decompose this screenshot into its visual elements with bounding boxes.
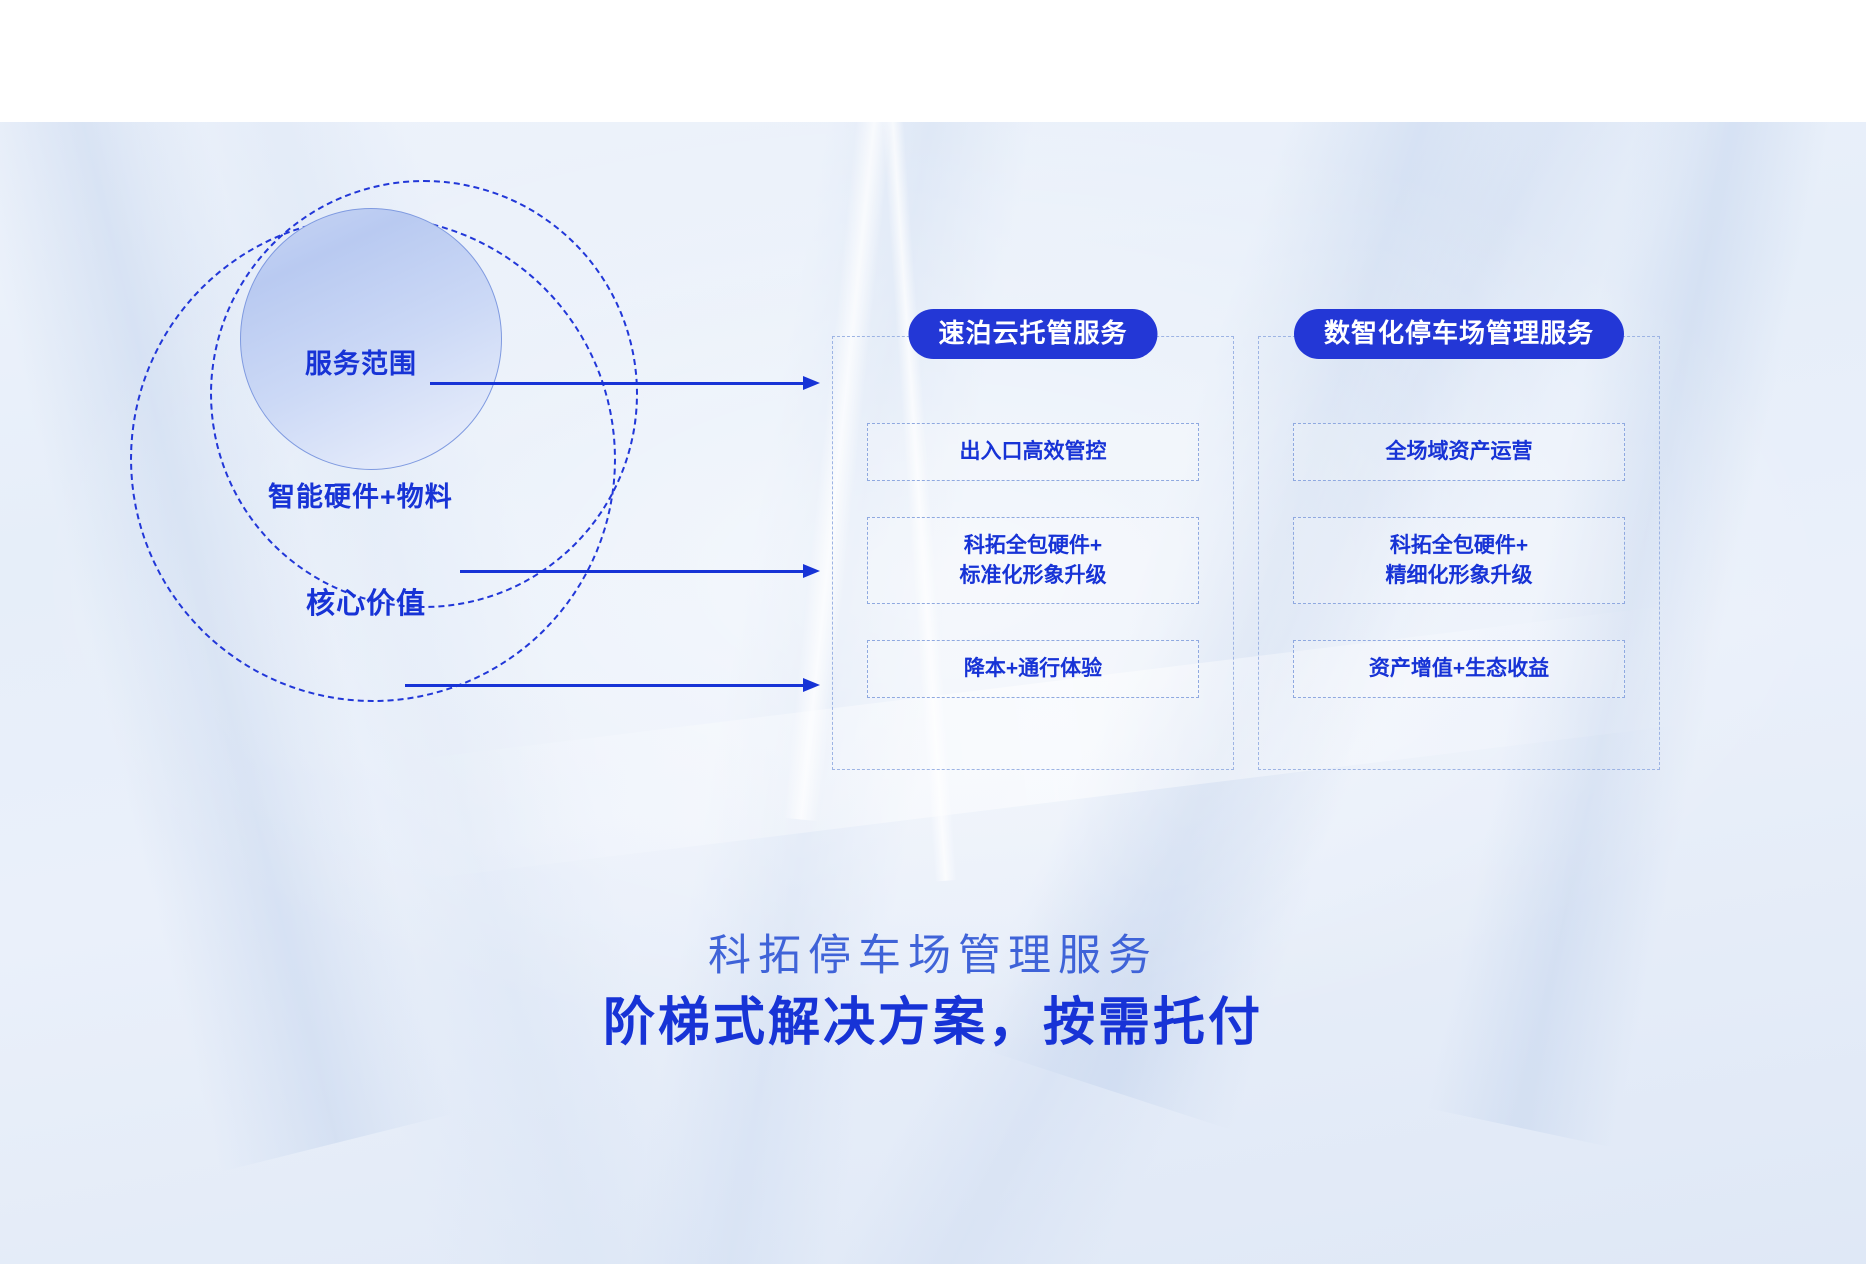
arrow-shaft — [405, 684, 803, 687]
inner-gradient-circle — [240, 208, 502, 470]
headline-subtitle: 科拓停车场管理服务 — [0, 930, 1866, 984]
service-item[interactable]: 全场域资产运营 — [1293, 423, 1625, 481]
service-item[interactable]: 出入口高效管控 — [867, 423, 1199, 481]
arrow-shaft — [430, 382, 803, 385]
headline-title: 阶梯式解决方案，按需托付 — [0, 990, 1866, 1058]
arrow-head — [803, 564, 820, 578]
column-items-smart-parking: 全场域资产运营 科拓全包硬件+ 精细化形象升级 资产增值+生态收益 — [1293, 423, 1625, 698]
service-item[interactable]: 科拓全包硬件+ 精细化形象升级 — [1293, 517, 1625, 605]
circle-label-core-value: 核心价值 — [306, 580, 426, 622]
bottom-headline: 科拓停车场管理服务 阶梯式解决方案，按需托付 — [0, 930, 1866, 1057]
arrow-shaft — [460, 570, 803, 573]
service-column-supo-cloud: 速泊云托管服务 出入口高效管控 科拓全包硬件+ 标准化形象升级 降本+通行体验 — [832, 336, 1234, 770]
slide-root: 服务范围 智能硬件+物料 核心价值 速泊云托管服务 出入口高效管控 科拓全包硬件… — [0, 0, 1866, 1264]
concentric-circles-group: 服务范围 智能硬件+物料 核心价值 — [120, 180, 740, 700]
column-items-supo-cloud: 出入口高效管控 科拓全包硬件+ 标准化形象升级 降本+通行体验 — [867, 423, 1199, 698]
service-column-smart-parking: 数智化停车场管理服务 全场域资产运营 科拓全包硬件+ 精细化形象升级 资产增值+… — [1258, 336, 1660, 770]
circle-label-hardware: 智能硬件+物料 — [268, 475, 453, 514]
service-item[interactable]: 科拓全包硬件+ 标准化形象升级 — [867, 517, 1199, 605]
column-badge-supo-cloud[interactable]: 速泊云托管服务 — [908, 309, 1157, 359]
circle-label-scope: 服务范围 — [305, 342, 417, 381]
service-item[interactable]: 资产增值+生态收益 — [1293, 640, 1625, 698]
arrow-icon-hardware — [460, 564, 820, 578]
arrow-icon-core-value — [405, 678, 820, 692]
arrow-head — [803, 678, 820, 692]
arrow-icon-scope — [430, 376, 820, 390]
arrow-head — [803, 376, 820, 390]
service-item[interactable]: 降本+通行体验 — [867, 640, 1199, 698]
column-badge-smart-parking[interactable]: 数智化停车场管理服务 — [1294, 309, 1624, 359]
